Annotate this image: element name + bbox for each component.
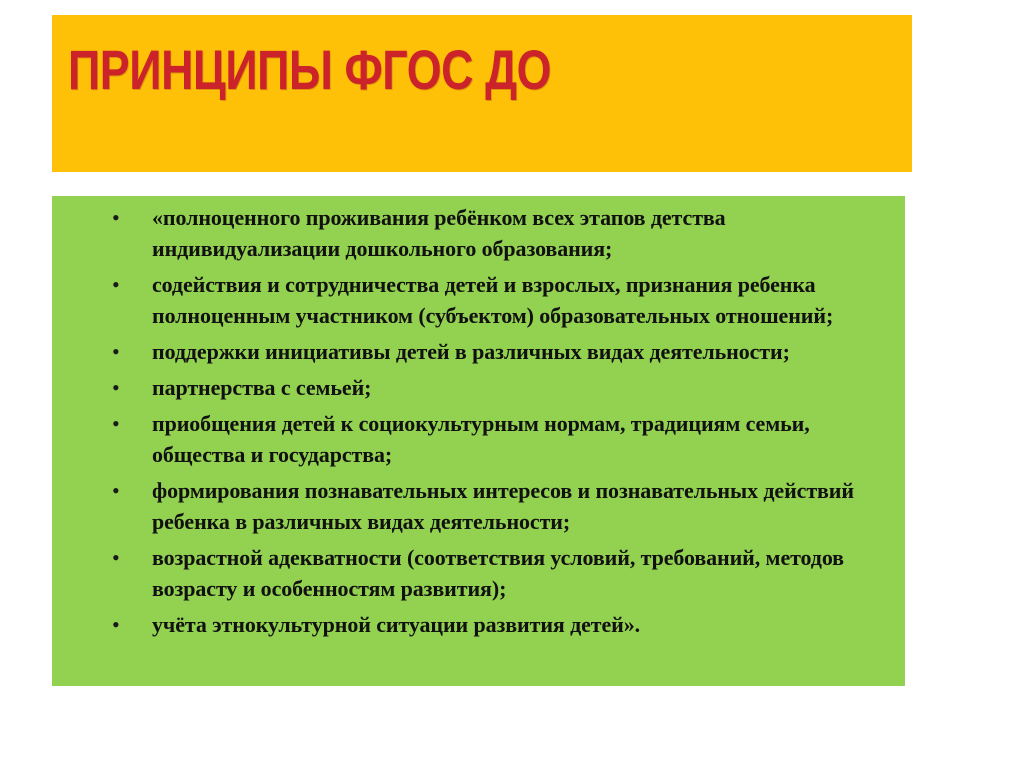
list-item-text: партнерства с семьей; xyxy=(152,372,905,403)
list-item-text: приобщения детей к социокультурным норма… xyxy=(152,408,905,470)
list-item: • формирования познавательных интересов … xyxy=(52,475,905,537)
list-item-text: возрастной адекватности (соответствия ус… xyxy=(152,542,905,604)
list-item: • «полноценного проживания ребёнком всех… xyxy=(52,202,905,264)
list-item-text: поддержки инициативы детей в различных в… xyxy=(152,336,905,367)
list-item: • партнерства с семьей; xyxy=(52,372,905,403)
bullet-dot-icon: • xyxy=(112,269,126,300)
list-item-text: учёта этнокультурной ситуации развития д… xyxy=(152,609,905,640)
list-item: • поддержки инициативы детей в различных… xyxy=(52,336,905,367)
bullet-dot-icon: • xyxy=(112,408,126,439)
bullet-dot-icon: • xyxy=(112,336,126,367)
title-banner: ПРИНЦИПЫ ФГОС ДО xyxy=(52,15,912,172)
list-item: • приобщения детей к социокультурным нор… xyxy=(52,408,905,470)
list-item-text: формирования познавательных интересов и … xyxy=(152,475,905,537)
bullet-dot-icon: • xyxy=(112,609,126,640)
bullet-dot-icon: • xyxy=(112,475,126,506)
slide-canvas: ПРИНЦИПЫ ФГОС ДО • «полноценного прожива… xyxy=(0,0,1024,768)
list-item: • возрастной адекватности (соответствия … xyxy=(52,542,905,604)
list-item-text: содействия и сотрудничества детей и взро… xyxy=(152,269,905,331)
list-item: • учёта этнокультурной ситуации развития… xyxy=(52,609,905,640)
bullet-dot-icon: • xyxy=(112,372,126,403)
list-item: • содействия и сотрудничества детей и вз… xyxy=(52,269,905,331)
bullet-dot-icon: • xyxy=(112,542,126,573)
list-item-text: «полноценного проживания ребёнком всех э… xyxy=(152,202,905,264)
content-panel: • «полноценного проживания ребёнком всех… xyxy=(52,196,905,686)
bullet-dot-icon: • xyxy=(112,202,126,233)
page-title: ПРИНЦИПЫ ФГОС ДО xyxy=(68,41,724,99)
principles-list: • «полноценного проживания ребёнком всех… xyxy=(52,202,905,645)
